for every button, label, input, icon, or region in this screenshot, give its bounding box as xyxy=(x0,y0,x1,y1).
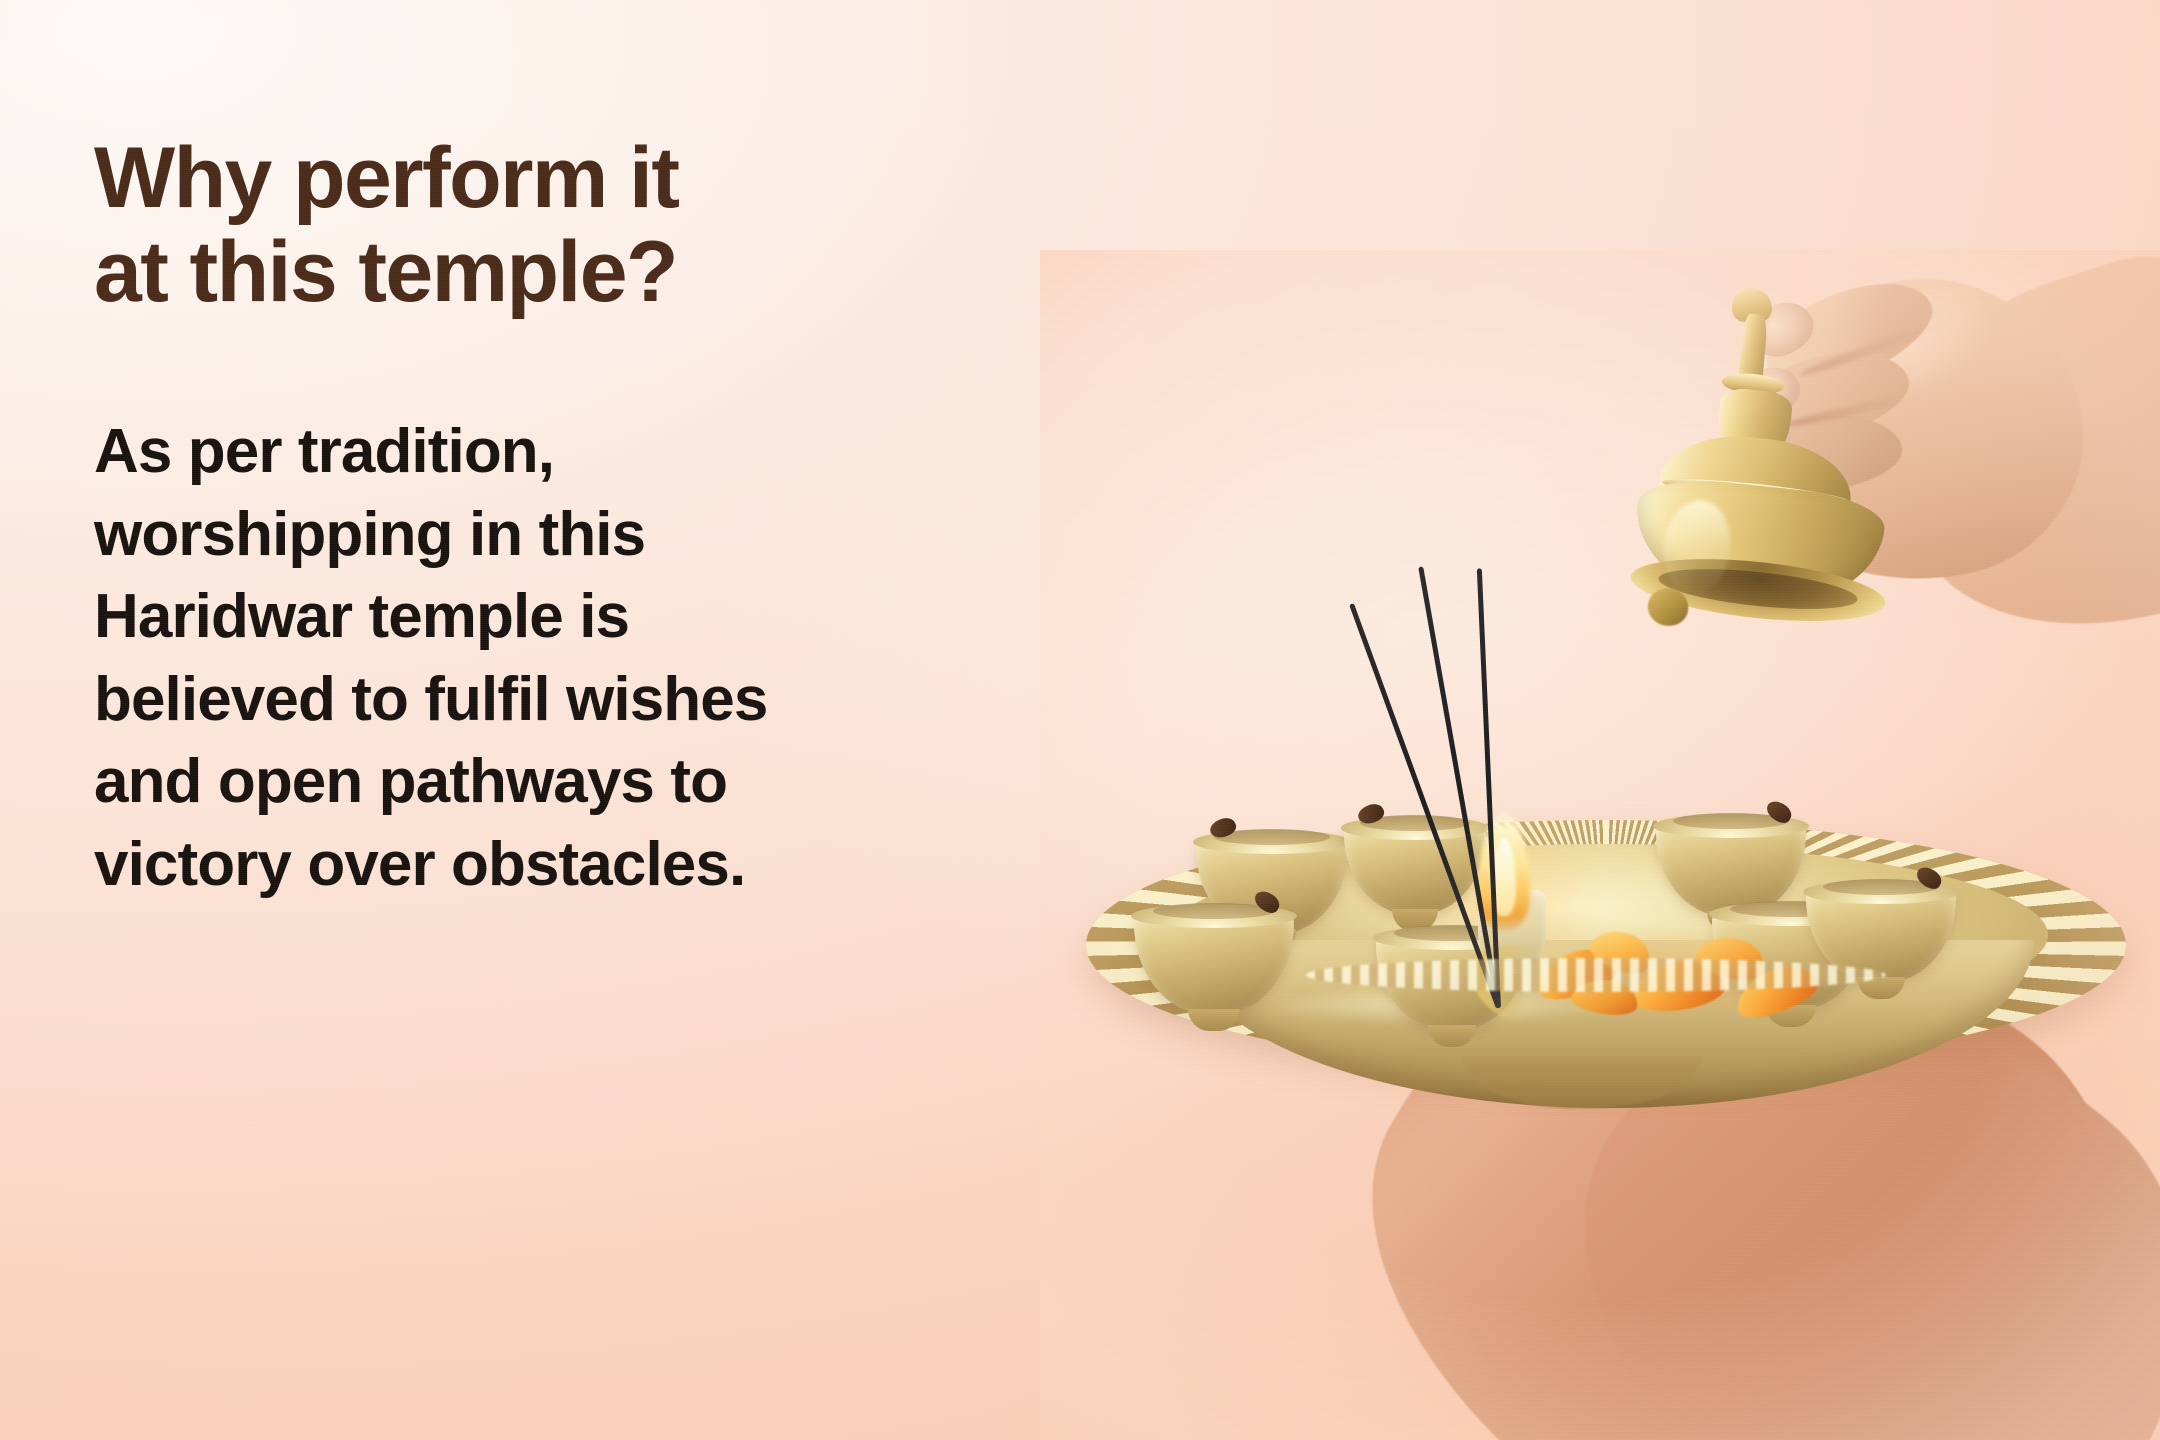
page-title: Why perform it at this temple? xyxy=(94,132,1014,319)
diya-lamp xyxy=(1134,910,1294,1014)
slide-canvas: Why perform it at this temple? As per tr… xyxy=(0,0,2160,1440)
body-paragraph: As per tradition, worshipping in this Ha… xyxy=(94,411,1014,906)
thali-scalloped-edge xyxy=(1306,958,1886,992)
brass-bell xyxy=(1606,288,1906,618)
text-column: Why perform it at this temple? As per tr… xyxy=(94,132,1014,906)
photo-illustration xyxy=(1040,250,2160,1440)
